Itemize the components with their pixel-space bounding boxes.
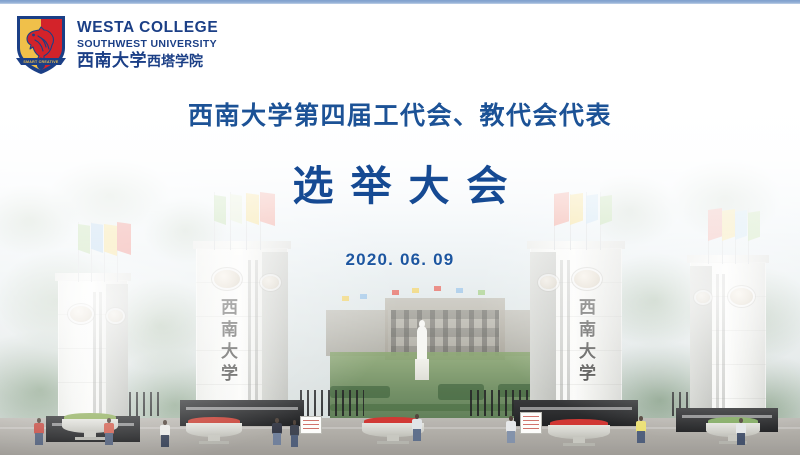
- pillar-fluting: [722, 274, 725, 412]
- logo-wordmark: WESTA COLLEGE SOUTHWEST UNIVERSITY 西南大学西…: [77, 20, 218, 70]
- college-logo: SMART CREATIVE WESTA COLLEGE SOUTHWEST U…: [14, 14, 218, 76]
- pillar-side-face: [530, 252, 556, 404]
- pedestrian: [272, 418, 282, 447]
- flag-blue: [91, 223, 103, 253]
- historic-building: [385, 298, 505, 360]
- pillar-side-face: [690, 266, 712, 412]
- pillar-calligraphy: 西南大学: [576, 298, 593, 386]
- logo-chinese-line: 西南大学西塔学院: [77, 53, 218, 70]
- pedestrian: [34, 418, 44, 446]
- pillar-medallion: [214, 270, 240, 288]
- pillar-fluting: [716, 274, 719, 412]
- notice-board: [300, 416, 322, 434]
- pedestrian: [412, 414, 422, 444]
- rooftop-flag: [478, 290, 485, 295]
- rooftop-flag: [434, 286, 441, 291]
- pillar-fluting: [567, 260, 570, 404]
- gate-pillar-left-inner: 西南大学: [196, 248, 288, 404]
- logo-chinese-main: 西南大学: [77, 51, 147, 71]
- gate-pillar-far-left: [58, 280, 128, 418]
- event-subtitle: 西南大学第四届工代会、教代会代表: [0, 96, 800, 132]
- pedestrian: [506, 416, 516, 446]
- pillar-medallion: [540, 276, 557, 289]
- event-title: 选举大会: [0, 152, 800, 212]
- pillar-fluting: [560, 260, 563, 404]
- gate-railing: [300, 390, 364, 416]
- flag-green: [748, 211, 760, 241]
- flower-planter: [186, 412, 242, 444]
- presentation-slide: 西南大学 西南大学: [0, 0, 800, 455]
- logo-english-secondary: SOUTHWEST UNIVERSITY: [77, 39, 218, 50]
- pillar-side-face: [262, 252, 288, 404]
- pedestrian: [104, 418, 114, 446]
- pillar-medallion: [108, 310, 123, 322]
- gate-pillar-right-inner: 西南大学: [530, 248, 622, 404]
- pillar-medallion: [730, 288, 753, 305]
- flower-planter: [548, 412, 610, 446]
- pillar-medallion: [70, 306, 92, 322]
- top-accent-strip: [0, 0, 800, 4]
- pillar-medallion: [696, 292, 710, 303]
- rooftop-flag: [360, 294, 367, 299]
- logo-chinese-sub: 西塔学院: [147, 54, 203, 70]
- pillar-calligraphy: 西南大学: [218, 298, 235, 386]
- logo-english-primary: WESTA COLLEGE: [77, 20, 218, 36]
- pedestrian: [290, 420, 299, 447]
- pillar-side-face: [106, 284, 128, 418]
- rooftop-flag: [342, 296, 349, 301]
- rooftop-flag: [412, 288, 419, 293]
- pillar-medallion: [574, 270, 600, 288]
- pillar-fluting: [255, 260, 258, 404]
- flag-blue: [735, 210, 747, 240]
- pillar-fluting: [93, 292, 96, 418]
- gate-pillar-far-right: [690, 262, 766, 412]
- flag-red: [708, 208, 722, 241]
- campus-statue: [414, 318, 430, 380]
- pedestrian: [736, 418, 746, 446]
- shield-motto-text: SMART CREATIVE: [23, 60, 59, 64]
- pillar-fluting: [99, 292, 102, 418]
- pedestrian: [160, 420, 170, 447]
- pillar-medallion: [262, 276, 279, 289]
- flower-planter: [706, 414, 760, 444]
- flag-yellow: [722, 209, 735, 241]
- notice-board: [520, 412, 542, 434]
- rooftop-flag: [392, 290, 399, 295]
- building-wing-left: [326, 310, 388, 356]
- pillar-fluting: [248, 260, 251, 404]
- event-date: 2020. 06. 09: [0, 250, 800, 270]
- rooftop-flag: [456, 288, 463, 293]
- pedestrian: [636, 416, 646, 445]
- westa-college-shield-icon: SMART CREATIVE: [14, 14, 68, 76]
